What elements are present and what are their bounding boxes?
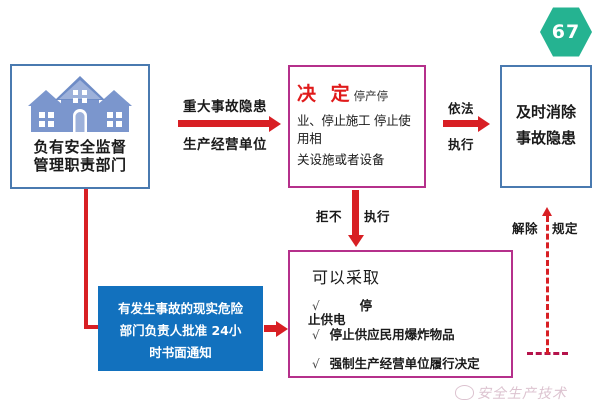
flowchart-canvas: 67 — [0, 0, 600, 415]
watermark-text: 安全生产技术 — [477, 386, 567, 402]
arrow-decision-to-eliminate — [443, 120, 479, 127]
node-department[interactable]: 负有安全监督 管理职责部门 — [10, 64, 150, 189]
connector-label-measures-to-eliminate-left: 解除 — [512, 218, 538, 237]
page-number-badge: 67 — [540, 6, 592, 58]
node-decision-keyword: 决 定 — [297, 83, 354, 105]
node-department-label-line1: 负有安全监督 — [12, 138, 148, 156]
house-icon — [25, 74, 135, 136]
node-decision[interactable]: 决 定停产停 业、停止施工 停止使用相 关设施或者设备 — [288, 65, 426, 188]
connector-label-dept-to-decision-bottom: 生产经营单位 — [183, 133, 267, 153]
node-measures[interactable]: 可以采取 √停 止供电 √停止供应民用爆炸物品 √强制生产经营单位履行决定 — [288, 250, 513, 378]
checkmark-icon: √ — [312, 357, 320, 371]
connector-label-measures-to-eliminate-right: 规定 — [552, 218, 578, 237]
measures-item-3: √强制生产经营单位履行决定 — [312, 353, 480, 372]
node-eliminate[interactable]: 及时消除 事故隐患 — [500, 65, 592, 188]
connector-label-decision-to-measures-right: 执行 — [364, 206, 390, 225]
node-eliminate-line1: 及时消除 — [502, 100, 590, 126]
arrow-notice-to-measures — [264, 325, 277, 332]
node-department-label: 负有安全监督 管理职责部门 — [12, 138, 148, 175]
node-eliminate-label: 及时消除 事故隐患 — [502, 100, 590, 151]
node-department-label-line2: 管理职责部门 — [12, 156, 148, 174]
connector-label-decision-to-eliminate-top: 依法 — [448, 98, 474, 117]
measures-item-2-text: 停止供应民用爆炸物品 — [330, 327, 455, 342]
node-measures-title: 可以采取 — [312, 264, 380, 288]
arrow-dept-to-decision — [178, 120, 270, 127]
checkmark-icon: √ — [312, 328, 320, 342]
node-decision-line2: 业、停止施工 停止使用相 — [297, 112, 417, 148]
node-decision-line3: 关设施或者设备 — [297, 151, 417, 169]
node-notice-line3: 时书面通知 — [98, 342, 263, 364]
wechat-logo-icon — [455, 385, 474, 400]
measures-item-1-text: 停 — [360, 298, 373, 313]
node-notice-line2: 部门负责人批准 24小 — [98, 320, 263, 342]
connector-label-dept-to-decision-top: 重大事故隐患 — [183, 95, 267, 115]
page-number-text: 67 — [552, 21, 580, 43]
measures-item-2: √停止供应民用爆炸物品 — [312, 324, 455, 343]
connector-dept-down — [84, 189, 88, 329]
feedback-arrow-head — [542, 207, 552, 216]
node-notice-line1: 有发生事故的现实危险 — [98, 298, 263, 320]
node-decision-line1: 决 定停产停 — [297, 81, 417, 108]
node-notice-label: 有发生事故的现实危险 部门负责人批准 24小 时书面通知 — [98, 298, 263, 364]
measures-item-3-text: 强制生产经营单位履行决定 — [330, 356, 480, 371]
node-notice[interactable]: 有发生事故的现实危险 部门负责人批准 24小 时书面通知 — [98, 286, 263, 371]
watermark: 安全生产技术 — [455, 383, 567, 403]
connector-label-decision-to-measures-left: 拒不 — [316, 206, 342, 225]
connector-label-decision-to-eliminate-bottom: 执行 — [448, 134, 474, 153]
node-decision-content: 决 定停产停 业、停止施工 停止使用相 关设施或者设备 — [290, 67, 424, 169]
node-decision-keyword-rest: 停产停 — [354, 89, 389, 103]
arrow-decision-to-measures — [352, 190, 359, 236]
feedback-dash-vertical — [546, 216, 549, 354]
node-eliminate-line2: 事故隐患 — [502, 126, 590, 152]
